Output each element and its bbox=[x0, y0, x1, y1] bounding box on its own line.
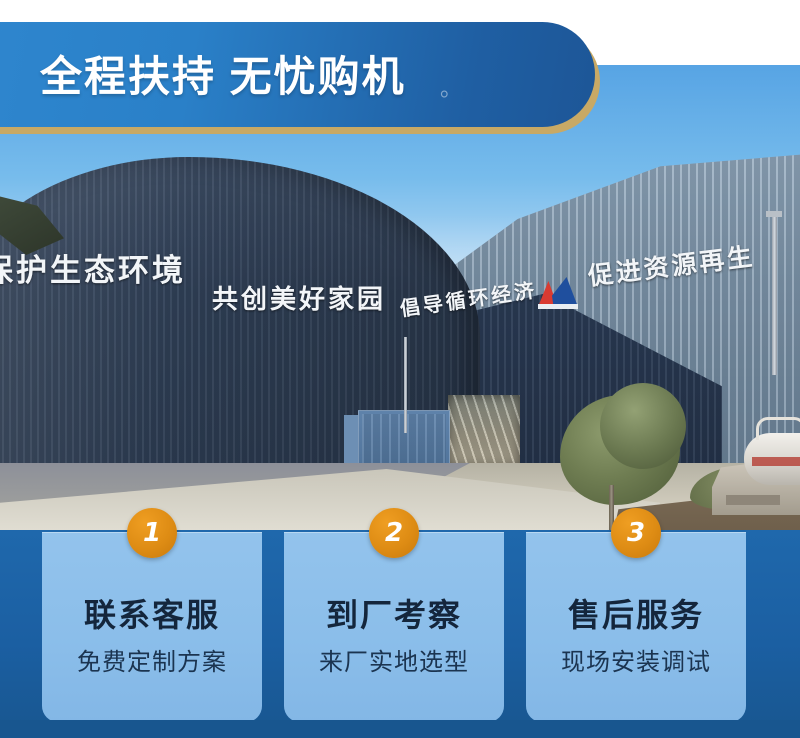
company-logo-icon bbox=[538, 277, 578, 309]
bottom-strip bbox=[0, 720, 800, 738]
promo-page: 保护生态环境 共创美好家园 倡导循环经济 促进资源再生 全程扶持 无忧购机 。 … bbox=[0, 0, 800, 738]
step-title-3: 售后服务 bbox=[526, 590, 746, 636]
tanker-support-leg bbox=[726, 495, 780, 505]
step-card-1[interactable]: 1 联系客服 免费定制方案 bbox=[42, 532, 262, 722]
step-card-3[interactable]: 3 售后服务 现场安装调试 bbox=[526, 532, 746, 722]
steps-section: 1 联系客服 免费定制方案 2 到厂考察 来厂实地选型 3 售后服务 现场安装调… bbox=[0, 530, 800, 738]
tree-canopy-upper bbox=[600, 383, 686, 469]
step-badge-3: 3 bbox=[611, 508, 661, 558]
step-number-2: 2 bbox=[369, 508, 419, 558]
tanker-handrail bbox=[756, 417, 800, 440]
step-subtitle-2: 来厂实地选型 bbox=[284, 642, 504, 677]
tanker-red-band bbox=[752, 457, 800, 466]
logo-blue-shape bbox=[552, 277, 578, 307]
step-badge-1: 1 bbox=[127, 508, 177, 558]
utility-pole-center bbox=[404, 337, 407, 433]
wall-slogan-2: 共创美好家园 bbox=[212, 279, 386, 316]
step-title-2: 到厂考察 bbox=[284, 590, 504, 636]
wall-slogan-1: 保护生态环境 bbox=[0, 245, 186, 290]
factory-warehouse-photo: 保护生态环境 共创美好家园 倡导循环经济 促进资源再生 bbox=[0, 65, 800, 530]
banner-title: 全程扶持 无忧购机 bbox=[40, 43, 406, 104]
utility-pole-crossbar bbox=[766, 211, 782, 217]
step-badge-2: 2 bbox=[369, 508, 419, 558]
step-subtitle-3: 现场安装调试 bbox=[526, 642, 746, 677]
step-number-1: 1 bbox=[127, 508, 177, 558]
banner-punctuation: 。 bbox=[440, 71, 462, 103]
warehouse-doorway bbox=[448, 395, 520, 467]
step-subtitle-1: 免费定制方案 bbox=[42, 642, 262, 677]
logo-base-bar bbox=[538, 304, 578, 309]
step-title-1: 联系客服 bbox=[42, 590, 262, 636]
utility-pole-right bbox=[772, 215, 777, 375]
step-number-3: 3 bbox=[611, 508, 661, 558]
step-card-2[interactable]: 2 到厂考察 来厂实地选型 bbox=[284, 532, 504, 722]
